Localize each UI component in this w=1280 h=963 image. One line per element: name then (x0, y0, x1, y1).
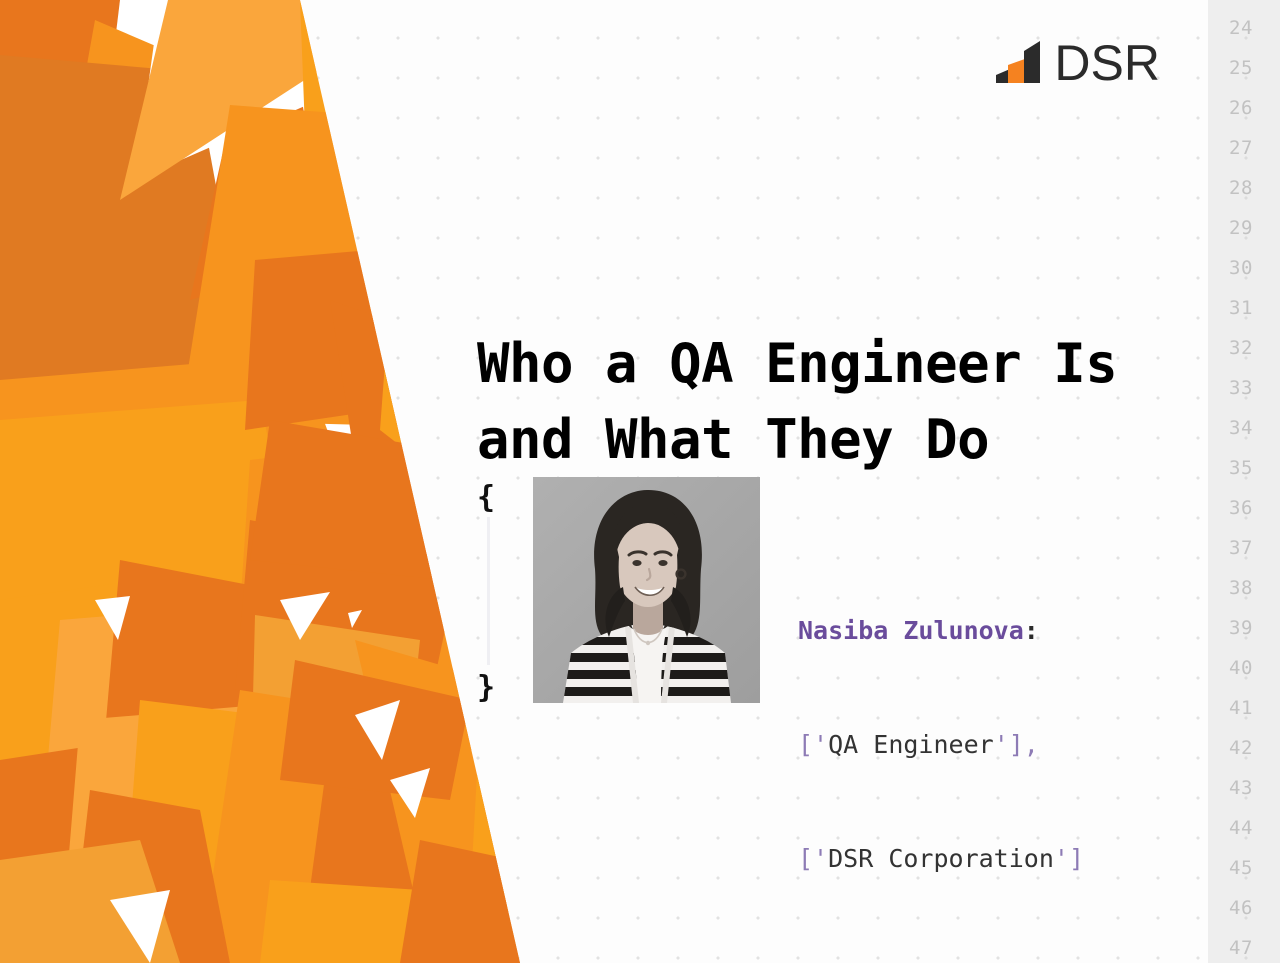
page-title-line-2: and What They Do (477, 402, 1177, 478)
page-title-line-1: Who a QA Engineer Is (477, 326, 1177, 402)
dsr-wordmark: DSR (1054, 38, 1160, 88)
role-close-bracket: '], (994, 730, 1039, 759)
line-number: 36 (1208, 488, 1280, 528)
orange-geometric-artwork (0, 0, 560, 963)
close-brace: } (477, 673, 495, 703)
dsr-bar-chart-mark-icon (994, 39, 1044, 87)
code-brace-group: { } (477, 477, 503, 703)
caption-colon: : (1024, 616, 1039, 645)
line-number: 26 (1208, 88, 1280, 128)
line-number: 35 (1208, 448, 1280, 488)
line-number: 46 (1208, 888, 1280, 928)
caption-name-line: Nasiba Zulunova: (798, 612, 1084, 650)
line-number: 27 (1208, 128, 1280, 168)
line-number: 31 (1208, 288, 1280, 328)
caption-company-line: ['DSR Corporation'] (798, 840, 1084, 878)
line-number: 32 (1208, 328, 1280, 368)
speaker-portrait (533, 477, 760, 703)
line-number: 43 (1208, 768, 1280, 808)
line-number: 38 (1208, 568, 1280, 608)
line-number: 45 (1208, 848, 1280, 888)
company-open-bracket: [' (798, 844, 828, 873)
line-number: 42 (1208, 728, 1280, 768)
line-number: 47 (1208, 928, 1280, 963)
line-number: 41 (1208, 688, 1280, 728)
line-number: 25 (1208, 48, 1280, 88)
speaker-name: Nasiba Zulunova (798, 616, 1024, 645)
dsr-logo: DSR (994, 38, 1160, 88)
speaker-role: QA Engineer (828, 730, 994, 759)
line-number: 37 (1208, 528, 1280, 568)
line-number: 44 (1208, 808, 1280, 848)
brace-connector-line (487, 517, 490, 665)
line-number: 39 (1208, 608, 1280, 648)
company-close-bracket: '] (1054, 844, 1084, 873)
slide-canvas: 2425262728293031323334353637383940414243… (0, 0, 1280, 963)
caption-role-line: ['QA Engineer'], (798, 726, 1084, 764)
line-number: 24 (1208, 8, 1280, 48)
speaker-company: DSR Corporation (828, 844, 1054, 873)
line-number: 40 (1208, 648, 1280, 688)
speaker-caption: Nasiba Zulunova: ['QA Engineer'], ['DSR … (798, 536, 1084, 954)
line-number: 30 (1208, 248, 1280, 288)
line-number: 29 (1208, 208, 1280, 248)
page-title: Who a QA Engineer Is and What They Do (477, 326, 1177, 478)
line-number: 33 (1208, 368, 1280, 408)
open-brace: { (477, 483, 495, 513)
role-open-bracket: [' (798, 730, 828, 759)
line-number-list: 2425262728293031323334353637383940414243… (1208, 0, 1280, 963)
line-number: 28 (1208, 168, 1280, 208)
line-number: 34 (1208, 408, 1280, 448)
